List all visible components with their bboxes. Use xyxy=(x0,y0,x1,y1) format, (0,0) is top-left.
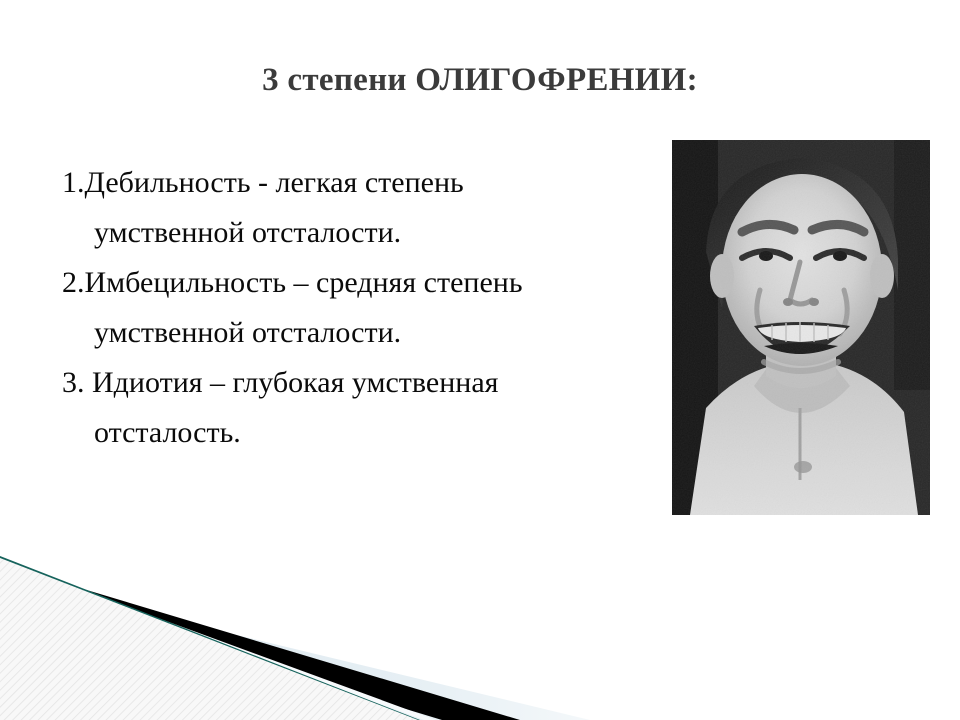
angles-corner-decoration xyxy=(0,520,960,720)
page-title: 3 степени ОЛИГОФРЕНИИ: xyxy=(60,62,900,100)
list-item: 1.Дебильность - легкая степень умственно… xyxy=(62,158,662,258)
teal-line xyxy=(0,556,420,720)
list-item-line-2: отсталость. xyxy=(62,408,662,458)
portrait-photo-image xyxy=(672,140,930,515)
list-item: 2.Имбецильность – средняя степень умстве… xyxy=(62,258,662,358)
list-item-line-1: 2.Имбецильность – средняя степень xyxy=(62,266,523,299)
body-placeholder: 1.Дебильность - легкая степень умственно… xyxy=(62,158,662,458)
list-item-line-2: умственной отсталости. xyxy=(62,308,662,358)
black-band xyxy=(0,564,520,720)
title-placeholder: 3 степени ОЛИГОФРЕНИИ: xyxy=(60,62,900,100)
list-item-line-1: 3. Идиотия – глубокая умственная xyxy=(62,366,498,399)
slide-canvas: 3 степени ОЛИГОФРЕНИИ: 1.Дебильность - л… xyxy=(0,0,960,720)
list-item-line-1: 1.Дебильность - легкая степень xyxy=(62,166,464,199)
light-edge-line xyxy=(0,560,436,720)
pale-blue-band xyxy=(0,578,590,720)
list-item: 3. Идиотия – глубокая умственная отстало… xyxy=(62,358,662,458)
textured-wedge xyxy=(0,558,418,720)
portrait-photo xyxy=(672,140,930,515)
list-item-line-2: умственной отсталости. xyxy=(62,208,662,258)
